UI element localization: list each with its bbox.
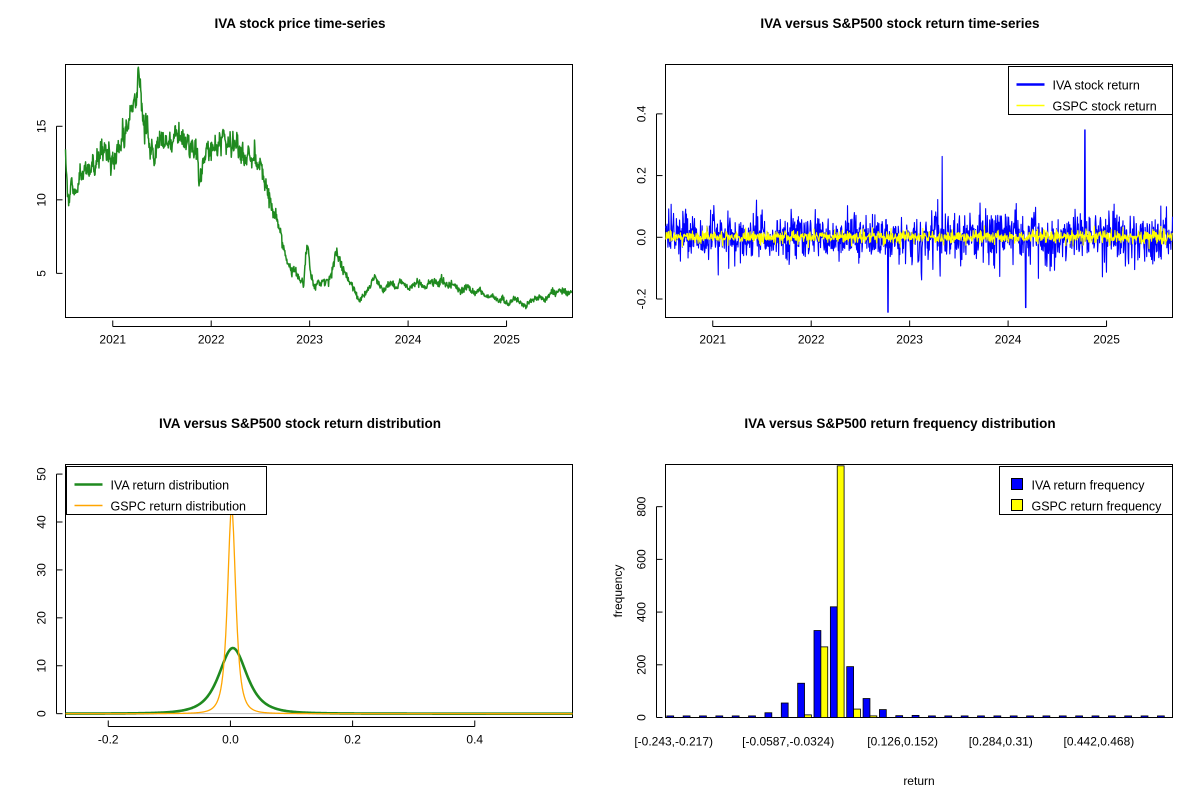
panel-freq-y-tick: 400	[635, 602, 649, 622]
panel-return-distribution-plot-area: 01020304050 -0.20.00.20.4 IVA return dis…	[35, 465, 573, 747]
histogram-bar	[863, 699, 870, 718]
panel-dens-x-tick: 0.4	[466, 733, 483, 747]
panel-freq-x-tick: [-0.243,-0.217)	[634, 735, 713, 749]
histogram-bar	[1010, 716, 1017, 718]
panel-return-timeseries-x-axis: 20212022202320242025	[699, 321, 1120, 347]
histogram-bar	[683, 716, 690, 718]
panel-return-distribution-y-axis: 01020304050	[35, 467, 63, 717]
panel-return-distribution-legend: IVA return distributionGSPC return distr…	[67, 467, 267, 515]
histogram-bar	[912, 715, 919, 717]
panel-price-series-group	[66, 67, 572, 308]
panel-freq-legend-label: IVA return frequency	[1032, 479, 1146, 493]
panel-price-timeseries: IVA stock price time-series 51015 202120…	[0, 0, 600, 400]
panel-return-ts-legend-label: GSPC stock return	[1053, 100, 1157, 114]
panel-freq-legend-swatch	[1012, 479, 1023, 490]
histogram-bar	[749, 716, 756, 718]
figure-canvas: IVA stock price time-series 51015 202120…	[0, 0, 1200, 800]
panel-dens-y-tick: 50	[35, 467, 49, 481]
panel-return-timeseries-series-group	[666, 130, 1173, 312]
panel-return-ts-x-tick: 2025	[1093, 333, 1120, 347]
panel-price-x-tick: 2024	[395, 333, 422, 347]
histogram-bar	[1157, 716, 1164, 718]
panel-dens-x-tick: 0.2	[344, 733, 361, 747]
panel-return-timeseries-y-axis: -0.20.00.20.4	[635, 105, 663, 309]
histogram-bar	[928, 716, 935, 718]
panel-freq-x-tick: [-0.0587,-0.0324)	[742, 735, 834, 749]
panel-freq-y-tick: 200	[635, 654, 649, 674]
histogram-bar	[837, 466, 844, 718]
panel-return-ts-y-tick: -0.2	[635, 288, 649, 309]
panel-dens-y-tick: 10	[35, 659, 49, 673]
histogram-bar	[821, 647, 828, 718]
panel-freq-y-tick: 600	[635, 549, 649, 569]
iva-return-distribution-curve	[66, 648, 573, 714]
panel-price-plot-area: 51015 20212022202320242025	[35, 65, 573, 347]
iva-price-line	[66, 67, 572, 308]
panel-price-x-axis: 20212022202320242025	[99, 321, 520, 347]
panel-return-frequency-x-axis: [-0.243,-0.217)[-0.0587,-0.0324)[0.126,0…	[634, 735, 1134, 749]
histogram-bar	[1043, 716, 1050, 718]
histogram-bar	[1092, 716, 1099, 718]
panel-price-x-tick: 2022	[198, 333, 225, 347]
panel-freq-legend-swatch	[1012, 500, 1023, 511]
panel-freq-x-tick: [0.126,0.152)	[867, 735, 938, 749]
panel-dens-y-tick: 0	[35, 710, 49, 717]
panel-dens-x-tick: -0.2	[98, 733, 119, 747]
histogram-bar	[667, 716, 674, 718]
histogram-bar	[1141, 716, 1148, 718]
histogram-bar	[1027, 716, 1034, 718]
panel-price-x-tick: 2023	[296, 333, 323, 347]
panel-return-timeseries-plot-area: -0.20.00.20.4 20212022202320242025 IVA s…	[635, 65, 1173, 347]
panel-dens-legend-label: GSPC return distribution	[111, 500, 247, 514]
panel-price-y-axis: 51015	[35, 119, 63, 276]
histogram-bar	[978, 716, 985, 718]
panel-dens-y-tick: 30	[35, 563, 49, 577]
panel-return-frequency-plot-area: 0200400600800 [-0.243,-0.217)[-0.0587,-0…	[611, 465, 1173, 789]
histogram-bar	[814, 631, 821, 718]
panel-return-frequency-legend: IVA return frequencyGSPC return frequenc…	[1000, 467, 1173, 515]
panel-return-distribution-title: IVA versus S&P500 stock return distribut…	[159, 416, 441, 431]
panel-return-distribution-series-group	[66, 508, 573, 714]
panel-return-ts-x-tick: 2022	[798, 333, 825, 347]
histogram-bar	[700, 716, 707, 718]
histogram-bar	[961, 716, 968, 718]
histogram-bar	[805, 715, 812, 718]
panel-return-distribution: IVA versus S&P500 stock return distribut…	[0, 400, 600, 800]
panel-return-frequency: IVA versus S&P500 return frequency distr…	[600, 400, 1200, 800]
histogram-bar	[945, 716, 952, 718]
panel-price-x-tick: 2025	[493, 333, 520, 347]
panel-dens-legend-label: IVA return distribution	[111, 479, 230, 493]
panel-return-timeseries-legend: IVA stock returnGSPC stock return	[1009, 67, 1173, 115]
histogram-bar	[781, 703, 788, 717]
panel-return-ts-legend-label: IVA stock return	[1053, 79, 1140, 93]
panel-return-ts-x-tick: 2023	[896, 333, 923, 347]
panel-return-frequency-x-axis-title: return	[903, 774, 934, 788]
panel-freq-y-tick: 0	[635, 714, 649, 721]
histogram-bar	[732, 716, 739, 718]
histogram-bar	[994, 716, 1001, 718]
histogram-bar	[1125, 716, 1132, 718]
panel-price-y-tick: 10	[35, 193, 49, 207]
panel-return-timeseries-title: IVA versus S&P500 stock return time-seri…	[760, 16, 1039, 31]
panel-price-y-tick: 5	[35, 270, 49, 277]
histogram-bar	[896, 716, 903, 718]
histogram-bar	[847, 667, 854, 718]
panel-freq-x-tick: [0.442,0.468)	[1064, 735, 1135, 749]
histogram-bar	[798, 683, 805, 717]
panel-return-ts-y-tick: 0.4	[635, 105, 649, 122]
histogram-bar	[765, 713, 772, 718]
histogram-bar	[854, 709, 861, 717]
panel-return-frequency-y-axis: 0200400600800	[635, 496, 663, 721]
panel-return-frequency-title: IVA versus S&P500 return frequency distr…	[744, 416, 1055, 431]
panel-price-x-tick: 2021	[99, 333, 126, 347]
panel-freq-legend-label: GSPC return frequency	[1032, 500, 1163, 514]
panel-return-ts-y-tick: 0.0	[635, 229, 649, 246]
histogram-bar	[830, 607, 837, 718]
gspc-return-distribution-curve	[66, 508, 573, 714]
histogram-bar	[716, 716, 723, 718]
panel-return-ts-y-tick: 0.2	[635, 167, 649, 184]
panel-return-timeseries: IVA versus S&P500 stock return time-seri…	[600, 0, 1200, 400]
histogram-bar	[879, 710, 886, 718]
panel-return-frequency-y-axis-title: frequency	[611, 565, 625, 618]
panel-return-ts-x-tick: 2021	[699, 333, 726, 347]
panel-dens-y-tick: 40	[35, 515, 49, 529]
histogram-bar	[1076, 716, 1083, 718]
iva-stock-return-line	[666, 130, 1173, 312]
panel-return-ts-x-tick: 2024	[995, 333, 1022, 347]
panel-freq-y-tick: 800	[635, 496, 649, 516]
histogram-bar	[1108, 716, 1115, 718]
panel-dens-x-tick: 0.0	[222, 733, 239, 747]
histogram-bar	[1059, 716, 1066, 718]
panel-price-title: IVA stock price time-series	[214, 16, 385, 31]
histogram-bar	[870, 716, 877, 718]
panel-freq-x-tick: [0.284,0.31)	[969, 735, 1033, 749]
panel-price-y-tick: 15	[35, 119, 49, 133]
panel-dens-y-tick: 20	[35, 611, 49, 625]
panel-return-distribution-x-axis: -0.20.00.20.4	[98, 721, 484, 747]
